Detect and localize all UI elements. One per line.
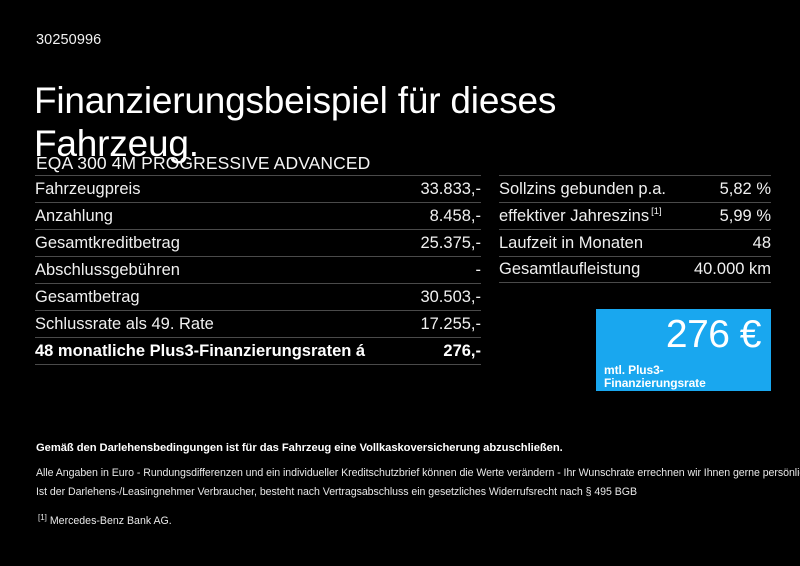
row-label: Laufzeit in Monaten <box>499 234 655 253</box>
footnote-marker <box>643 234 645 245</box>
row-label: Anzahlung <box>35 207 123 226</box>
footer-disclaimer: Gemäß den Darlehensbedingungen ist für d… <box>36 443 776 528</box>
row-label: Gesamtbetrag <box>35 288 150 307</box>
rate-caption: mtl. Plus3-Finanzierungsrate <box>604 364 761 390</box>
row-value: 17.255,- <box>420 315 481 334</box>
row-value: 276,- <box>443 342 481 361</box>
row-label: 48 monatliche Plus3-Finanzierungsraten á <box>35 342 375 361</box>
row-label: Schlussrate als 49. Rate <box>35 315 224 334</box>
table-row: effektiver Jahreszins[1] 5,99 % <box>499 202 771 229</box>
vehicle-model-name: EQA 300 4M PROGRESSIVE ADVANCED <box>36 153 370 174</box>
row-label: Abschlussgebühren <box>35 261 190 280</box>
footnote-text: Mercedes-Benz Bank AG. <box>50 515 172 527</box>
table-row: Schlussrate als 49. Rate 17.255,- <box>35 310 481 337</box>
footer-line-1: Alle Angaben in Euro - Rundungsdifferenz… <box>36 464 776 483</box>
monthly-rate-highlight-box: 276 € mtl. Plus3-Finanzierungsrate <box>596 309 771 391</box>
rate-amount: 276 € <box>666 311 761 360</box>
row-label: Fahrzeugpreis <box>35 180 150 199</box>
footer-line-2: Ist der Darlehens-/Leasingnehmer Verbrau… <box>36 483 776 502</box>
row-value: 33.833,- <box>420 180 481 199</box>
row-label: Sollzins gebunden p.a. <box>499 180 678 199</box>
table-row: Sollzins gebunden p.a. 5,82 % <box>499 175 771 202</box>
table-row: Gesamtbetrag 30.503,- <box>35 283 481 310</box>
row-label: effektiver Jahreszins[1] <box>499 207 672 226</box>
loan-terms-table: Sollzins gebunden p.a. 5,82 % effektiver… <box>499 175 771 283</box>
row-value: 5,82 % <box>720 180 771 199</box>
footer-footnote: [1] Mercedes-Benz Bank AG. <box>36 515 776 528</box>
table-row: Gesamtlaufleistung 40.000 km <box>499 256 771 283</box>
table-row: Abschlussgebühren - <box>35 256 481 283</box>
row-value: 40.000 km <box>694 260 771 279</box>
stock-id: 30250996 <box>36 32 101 49</box>
row-value: 48 <box>753 234 771 253</box>
table-row: Gesamtkreditbetrag 25.375,- <box>35 229 481 256</box>
row-value: 8.458,- <box>430 207 481 226</box>
footnote-marker: [1] <box>649 207 662 218</box>
table-row: Fahrzeugpreis 33.833,- <box>35 175 481 202</box>
row-value: 25.375,- <box>420 234 481 253</box>
table-row: Laufzeit in Monaten 48 <box>499 229 771 256</box>
footnote-marker <box>666 180 668 191</box>
footnote-marker <box>640 260 642 271</box>
table-row: Anzahlung 8.458,- <box>35 202 481 229</box>
row-label: Gesamtlaufleistung <box>499 260 652 279</box>
footnote-marker: [1] <box>36 513 47 522</box>
footer-bold-line: Gemäß den Darlehensbedingungen ist für d… <box>36 443 776 454</box>
table-row-monthly-rate: 48 monatliche Plus3-Finanzierungsraten á… <box>35 337 481 365</box>
row-value: 5,99 % <box>720 207 771 226</box>
row-value: 30.503,- <box>420 288 481 307</box>
financing-details-table: Fahrzeugpreis 33.833,- Anzahlung 8.458,-… <box>35 175 481 365</box>
financing-example-page: 30250996 Finanzierungsbeispiel für diese… <box>0 0 800 566</box>
row-value: - <box>476 261 482 280</box>
row-label: Gesamtkreditbetrag <box>35 234 190 253</box>
